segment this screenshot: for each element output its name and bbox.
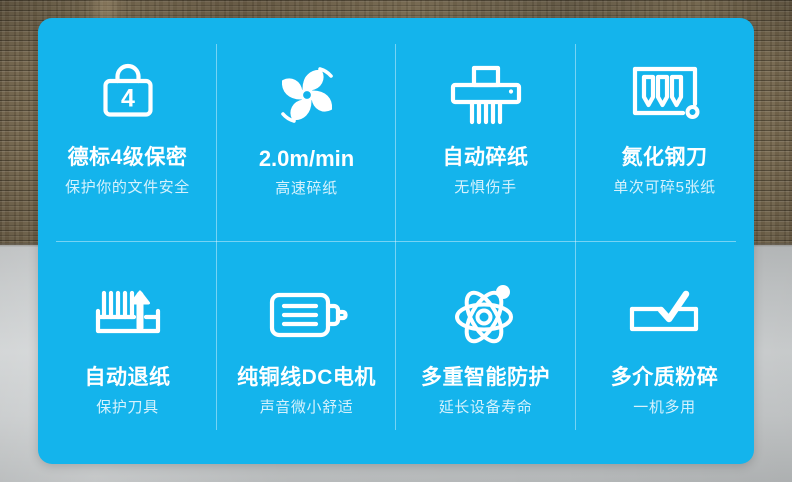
feature-title: 德标4级保密 <box>68 146 188 170</box>
feature-subtitle: 一机多用 <box>633 399 695 416</box>
feature-subtitle: 保护你的文件安全 <box>65 179 190 196</box>
feature-title: 多介质粉碎 <box>611 366 719 390</box>
feature-title: 自动碎纸 <box>443 146 529 170</box>
feature-subtitle: 无惧伤手 <box>454 179 516 196</box>
feature-subtitle: 延长设备寿命 <box>439 399 533 416</box>
feature-title: 自动退纸 <box>85 366 171 390</box>
paper-eject-icon <box>88 276 168 354</box>
feature-cell-dc-motor: 纯铜线DC电机 声音微小舒适 <box>217 241 396 464</box>
feature-cell-security-level: 4 德标4级保密 保护你的文件安全 <box>38 18 217 241</box>
feature-title: 氮化钢刀 <box>622 146 708 170</box>
feature-title: 2.0m/min <box>259 146 354 171</box>
atom-shield-icon <box>449 276 523 354</box>
feature-subtitle: 单次可碎5张纸 <box>613 179 716 196</box>
feature-subtitle: 声音微小舒适 <box>260 399 354 416</box>
feature-grid: 4 德标4级保密 保护你的文件安全 <box>38 18 754 464</box>
padlock-badge-number: 4 <box>121 85 135 113</box>
feature-cell-steel-blade: 氮化钢刀 单次可碎5张纸 <box>575 18 754 241</box>
feature-subtitle: 保护刀具 <box>96 399 158 416</box>
feature-title: 纯铜线DC电机 <box>237 366 376 390</box>
feature-subtitle: 高速碎纸 <box>275 180 337 197</box>
multi-media-shred-icon <box>624 276 706 354</box>
paper-shredder-icon <box>445 56 527 134</box>
steel-blades-icon <box>627 56 703 134</box>
dc-motor-icon <box>264 276 350 354</box>
product-feature-banner: 4 德标4级保密 保护你的文件安全 <box>0 0 792 482</box>
feature-cell-smart-protection: 多重智能防护 延长设备寿命 <box>396 241 575 464</box>
feature-cell-multi-media: 多介质粉碎 一机多用 <box>575 241 754 464</box>
feature-cell-speed: 2.0m/min 高速碎纸 <box>217 18 396 241</box>
padlock-level4-icon: 4 <box>92 56 164 134</box>
feature-cell-auto-eject: 自动退纸 保护刀具 <box>38 241 217 464</box>
feature-cell-auto-shred: 自动碎纸 无惧伤手 <box>396 18 575 241</box>
feature-card: 4 德标4级保密 保护你的文件安全 <box>38 18 754 464</box>
feature-title: 多重智能防护 <box>421 366 550 390</box>
fan-blades-icon <box>270 56 344 134</box>
